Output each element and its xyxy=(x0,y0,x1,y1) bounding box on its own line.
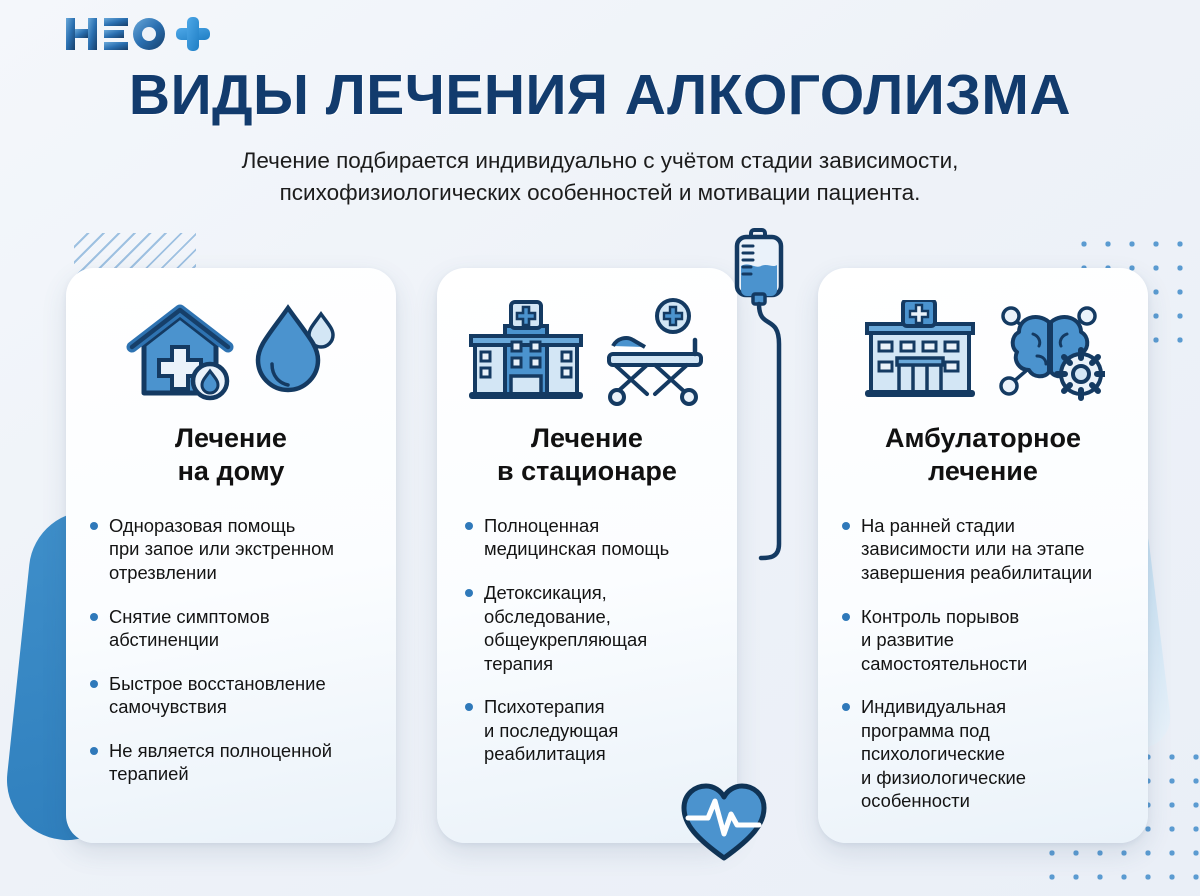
bullet-line: Не является полноценной xyxy=(109,739,392,763)
card-outpatient-treatment[interactable]: Амбулаторное лечение На ранней стадии за… xyxy=(818,268,1148,843)
card-title-line-1: Лечение xyxy=(66,422,396,455)
bullet-line: и физиологические xyxy=(861,766,1144,790)
bullet-line: абстиненции xyxy=(109,628,392,652)
page-title: ВИДЫ ЛЕЧЕНИЯ АЛКОГОЛИЗМА xyxy=(0,62,1200,128)
bullet-line: Быстрое восстановление xyxy=(109,672,392,696)
subtitle-line-1: Лечение подбирается индивидуально с учёт… xyxy=(0,145,1200,177)
heart-pulse-decoration xyxy=(680,782,768,869)
card-title-line-1: Лечение xyxy=(437,422,737,455)
card-title-line-2: лечение xyxy=(818,455,1148,488)
card-home-treatment[interactable]: Лечение на дому Одноразовая помощь при з… xyxy=(66,268,396,843)
card-inpatient-treatment[interactable]: Лечение в стационаре Полноценная медицин… xyxy=(437,268,737,843)
list-item: Индивидуальная программа под психологиче… xyxy=(842,695,1144,813)
iv-drip-decoration xyxy=(731,228,801,573)
bullet-line: отрезвлении xyxy=(109,561,392,585)
card-title: Амбулаторное лечение xyxy=(818,422,1148,488)
subtitle-line-2: психофизиологических особенностей и моти… xyxy=(0,177,1200,209)
card-bullet-list: Одноразовая помощь при запое или экстрен… xyxy=(66,514,396,786)
card-icons xyxy=(437,268,737,418)
bullet-line: при запое или экстренном xyxy=(109,537,392,561)
bullet-line: Контроль порывов xyxy=(861,605,1144,629)
bullet-line: Психотерапия xyxy=(484,695,733,719)
list-item: Не является полноценной терапией xyxy=(90,739,392,786)
card-title: Лечение в стационаре xyxy=(437,422,737,488)
bullet-line: На ранней стадии xyxy=(861,514,1144,538)
bullet-line: особенности xyxy=(861,789,1144,813)
bullet-line: Снятие симптомов xyxy=(109,605,392,629)
list-item: Полноценная медицинская помощь xyxy=(465,514,733,561)
iv-drip-bag-icon xyxy=(731,228,801,568)
card-bullet-list: Полноценная медицинская помощь Детоксика… xyxy=(437,514,737,766)
bullet-line: зависимости или на этапе xyxy=(861,537,1144,561)
bullet-line: обследование, xyxy=(484,605,733,629)
card-icons xyxy=(66,268,396,418)
bullet-line: самочувствия xyxy=(109,695,392,719)
page-subtitle: Лечение подбирается индивидуально с учёт… xyxy=(0,145,1200,209)
card-icons xyxy=(818,268,1148,418)
clinic-building-icon xyxy=(861,300,979,404)
card-bullet-list: На ранней стадии зависимости или на этап… xyxy=(818,514,1148,813)
bullet-line: Детоксикация, xyxy=(484,581,733,605)
bullet-line: медицинская помощь xyxy=(484,537,733,561)
bullet-line: психологические xyxy=(861,742,1144,766)
card-title: Лечение на дому xyxy=(66,422,396,488)
brand-logo xyxy=(64,12,214,56)
bullet-line: терапия xyxy=(484,652,733,676)
bullet-line: Индивидуальная xyxy=(861,695,1144,719)
bullet-line: самостоятельности xyxy=(861,652,1144,676)
hospital-building-icon xyxy=(467,298,585,406)
water-drop-icon xyxy=(254,300,338,404)
list-item: Снятие симптомов абстиненции xyxy=(90,605,392,652)
list-item: Одноразовая помощь при запое или экстрен… xyxy=(90,514,392,585)
bullet-line: Полноценная xyxy=(484,514,733,538)
heart-pulse-icon xyxy=(680,782,768,864)
bullet-line: общеукрепляющая xyxy=(484,628,733,652)
bullet-line: терапией xyxy=(109,762,392,786)
hospital-gurney-icon xyxy=(603,298,707,406)
bullet-line: программа под xyxy=(861,719,1144,743)
bullet-line: завершения реабилитации xyxy=(861,561,1144,585)
list-item: Контроль порывов и развитие самостоятель… xyxy=(842,605,1144,676)
bullet-line: и последующая xyxy=(484,719,733,743)
house-medical-icon xyxy=(124,299,236,405)
list-item: На ранней стадии зависимости или на этап… xyxy=(842,514,1144,585)
neo-plus-logo-icon xyxy=(64,12,214,56)
card-title-line-2: в стационаре xyxy=(437,455,737,488)
card-title-line-2: на дому xyxy=(66,455,396,488)
bullet-line: реабилитация xyxy=(484,742,733,766)
bullet-line: Одноразовая помощь xyxy=(109,514,392,538)
brain-gear-icon xyxy=(997,300,1105,404)
list-item: Детоксикация, обследование, общеукрепляю… xyxy=(465,581,733,675)
bullet-line: и развитие xyxy=(861,628,1144,652)
card-title-line-1: Амбулаторное xyxy=(818,422,1148,455)
list-item: Психотерапия и последующая реабилитация xyxy=(465,695,733,766)
list-item: Быстрое восстановление самочувствия xyxy=(90,672,392,719)
